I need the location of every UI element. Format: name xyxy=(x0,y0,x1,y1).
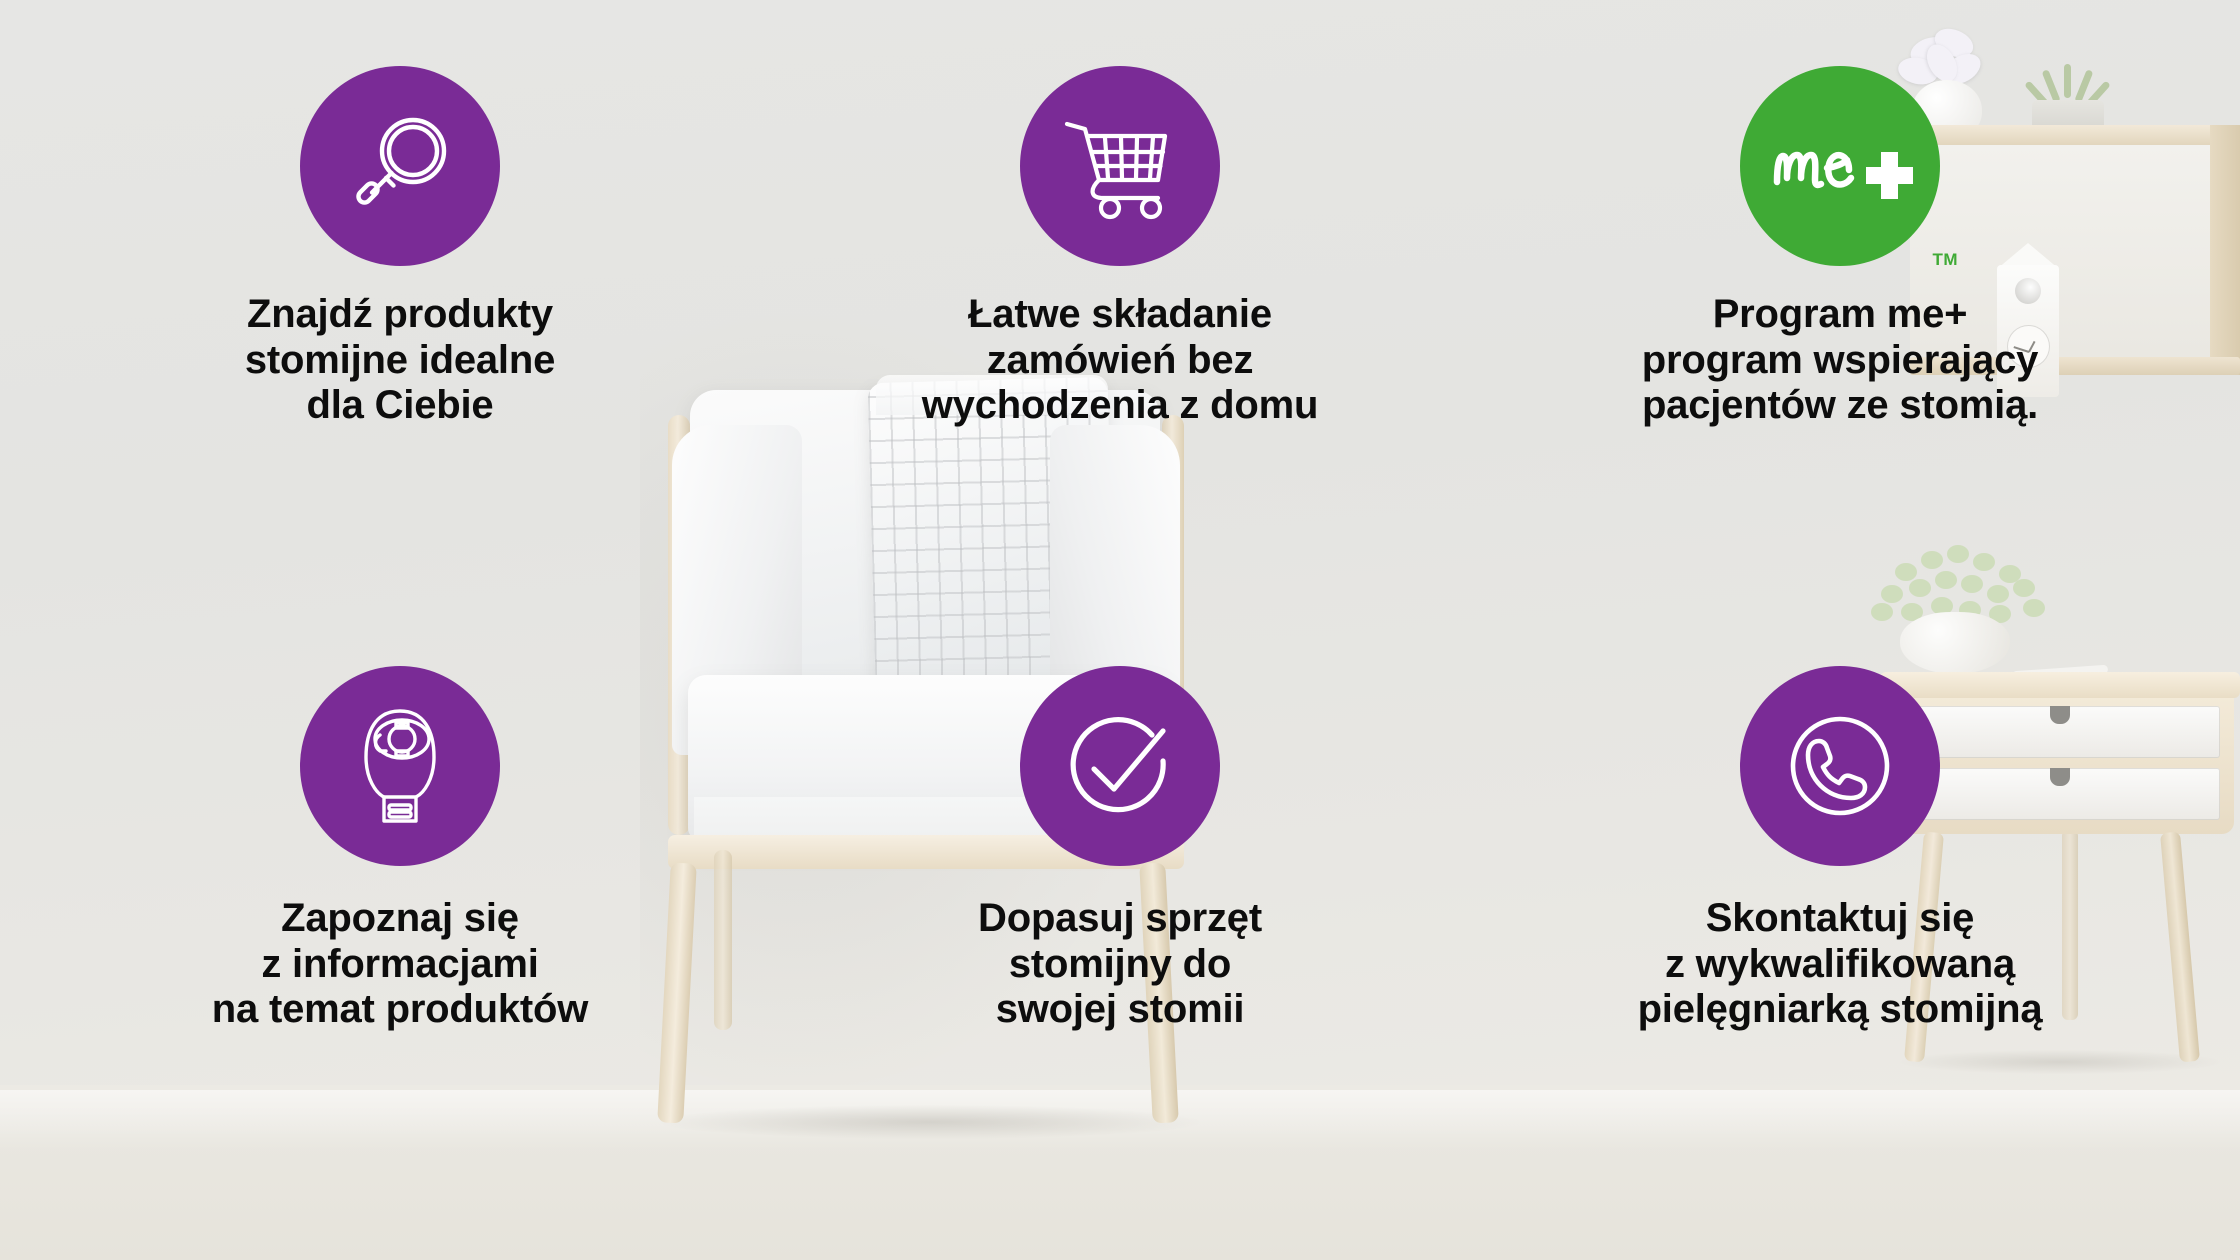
ostomy-pouch-icon[interactable] xyxy=(300,666,500,866)
magnifier-icon[interactable] xyxy=(300,66,500,266)
feature-caption: Łatwe składanie zamówień bez wychodzenia… xyxy=(922,292,1318,429)
phone-circle-icon[interactable] xyxy=(1740,666,1940,866)
feature-caption: Zapoznaj się z informacjami na temat pro… xyxy=(212,896,588,1033)
feature-caption: Dopasuj sprzęt stomijny do swojej stomii xyxy=(978,896,1262,1033)
feature-caption: Skontaktuj się z wykwalifikowaną pielęgn… xyxy=(1638,896,2043,1033)
feature-contact-nurse[interactable]: Skontaktuj się z wykwalifikowaną pielęgn… xyxy=(1480,648,2200,1230)
feature-find-products[interactable]: Znajdź produkty stomijne idealne dla Cie… xyxy=(40,66,760,648)
me-plus-logo-icon[interactable]: TM xyxy=(1740,66,1940,266)
trademark-mark: TM xyxy=(1932,250,1958,270)
feature-fit-equipment[interactable]: Dopasuj sprzęt stomijny do swojej stomii xyxy=(760,648,1480,1230)
feature-product-information[interactable]: Zapoznaj się z informacjami na temat pro… xyxy=(40,648,760,1230)
feature-caption: Znajdź produkty stomijne idealne dla Cie… xyxy=(245,292,555,429)
feature-easy-ordering[interactable]: Łatwe składanie zamówień bez wychodzenia… xyxy=(760,66,1480,648)
feature-grid: Znajdź produkty stomijne idealne dla Cie… xyxy=(0,0,2240,1260)
check-circle-icon[interactable] xyxy=(1020,666,1220,866)
shopping-cart-icon[interactable] xyxy=(1020,66,1220,266)
feature-caption: Program me+ program wspierający pacjentó… xyxy=(1642,292,2038,429)
feature-me-plus-program[interactable]: TM Program me+ program wspierający pacje… xyxy=(1480,66,2200,648)
